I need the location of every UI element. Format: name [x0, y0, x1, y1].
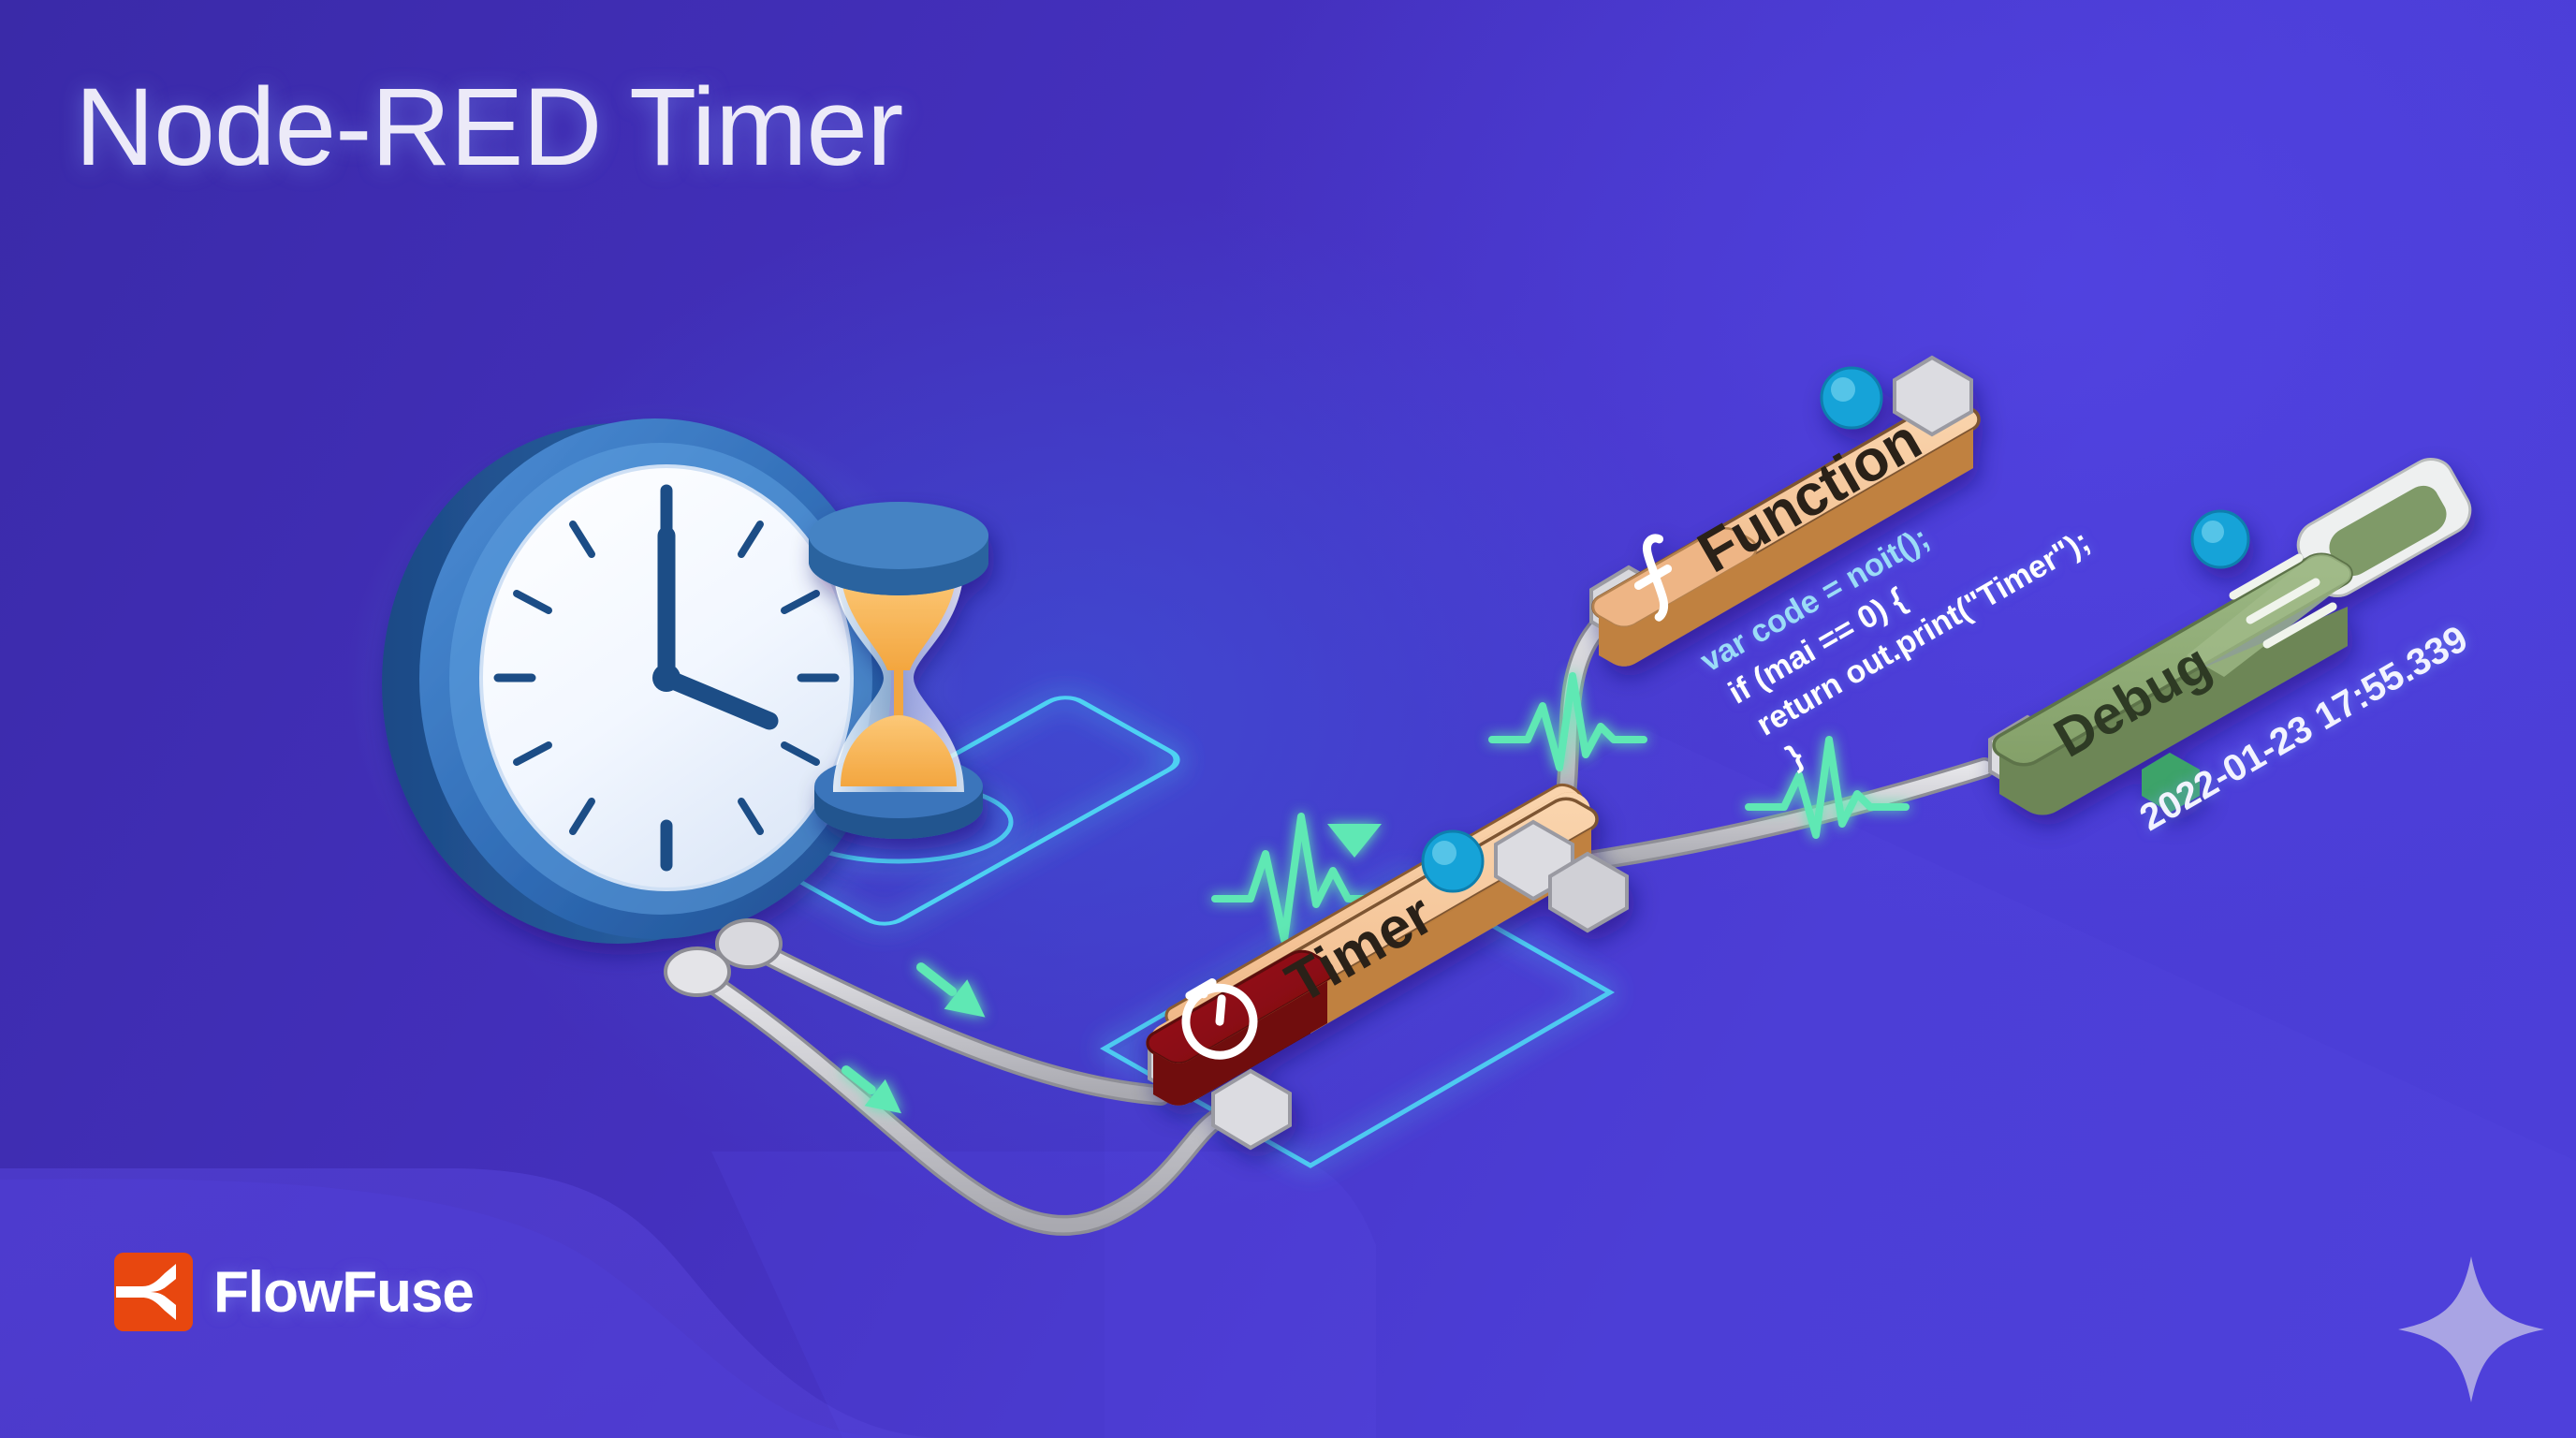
sparkle-star	[2398, 1256, 2544, 1402]
flow-arrow-3	[1327, 824, 1382, 858]
analog-clock	[382, 418, 891, 944]
flowfuse-wordmark: FlowFuse	[213, 1259, 474, 1326]
flow-illustration	[0, 0, 2576, 1438]
hero-banner: Node-RED Timer	[0, 0, 2576, 1438]
node-timer	[1148, 785, 1627, 1148]
flowfuse-mark-icon	[114, 1253, 193, 1331]
flowfuse-logo[interactable]: FlowFuse	[114, 1253, 474, 1331]
node-function	[1591, 358, 1979, 667]
